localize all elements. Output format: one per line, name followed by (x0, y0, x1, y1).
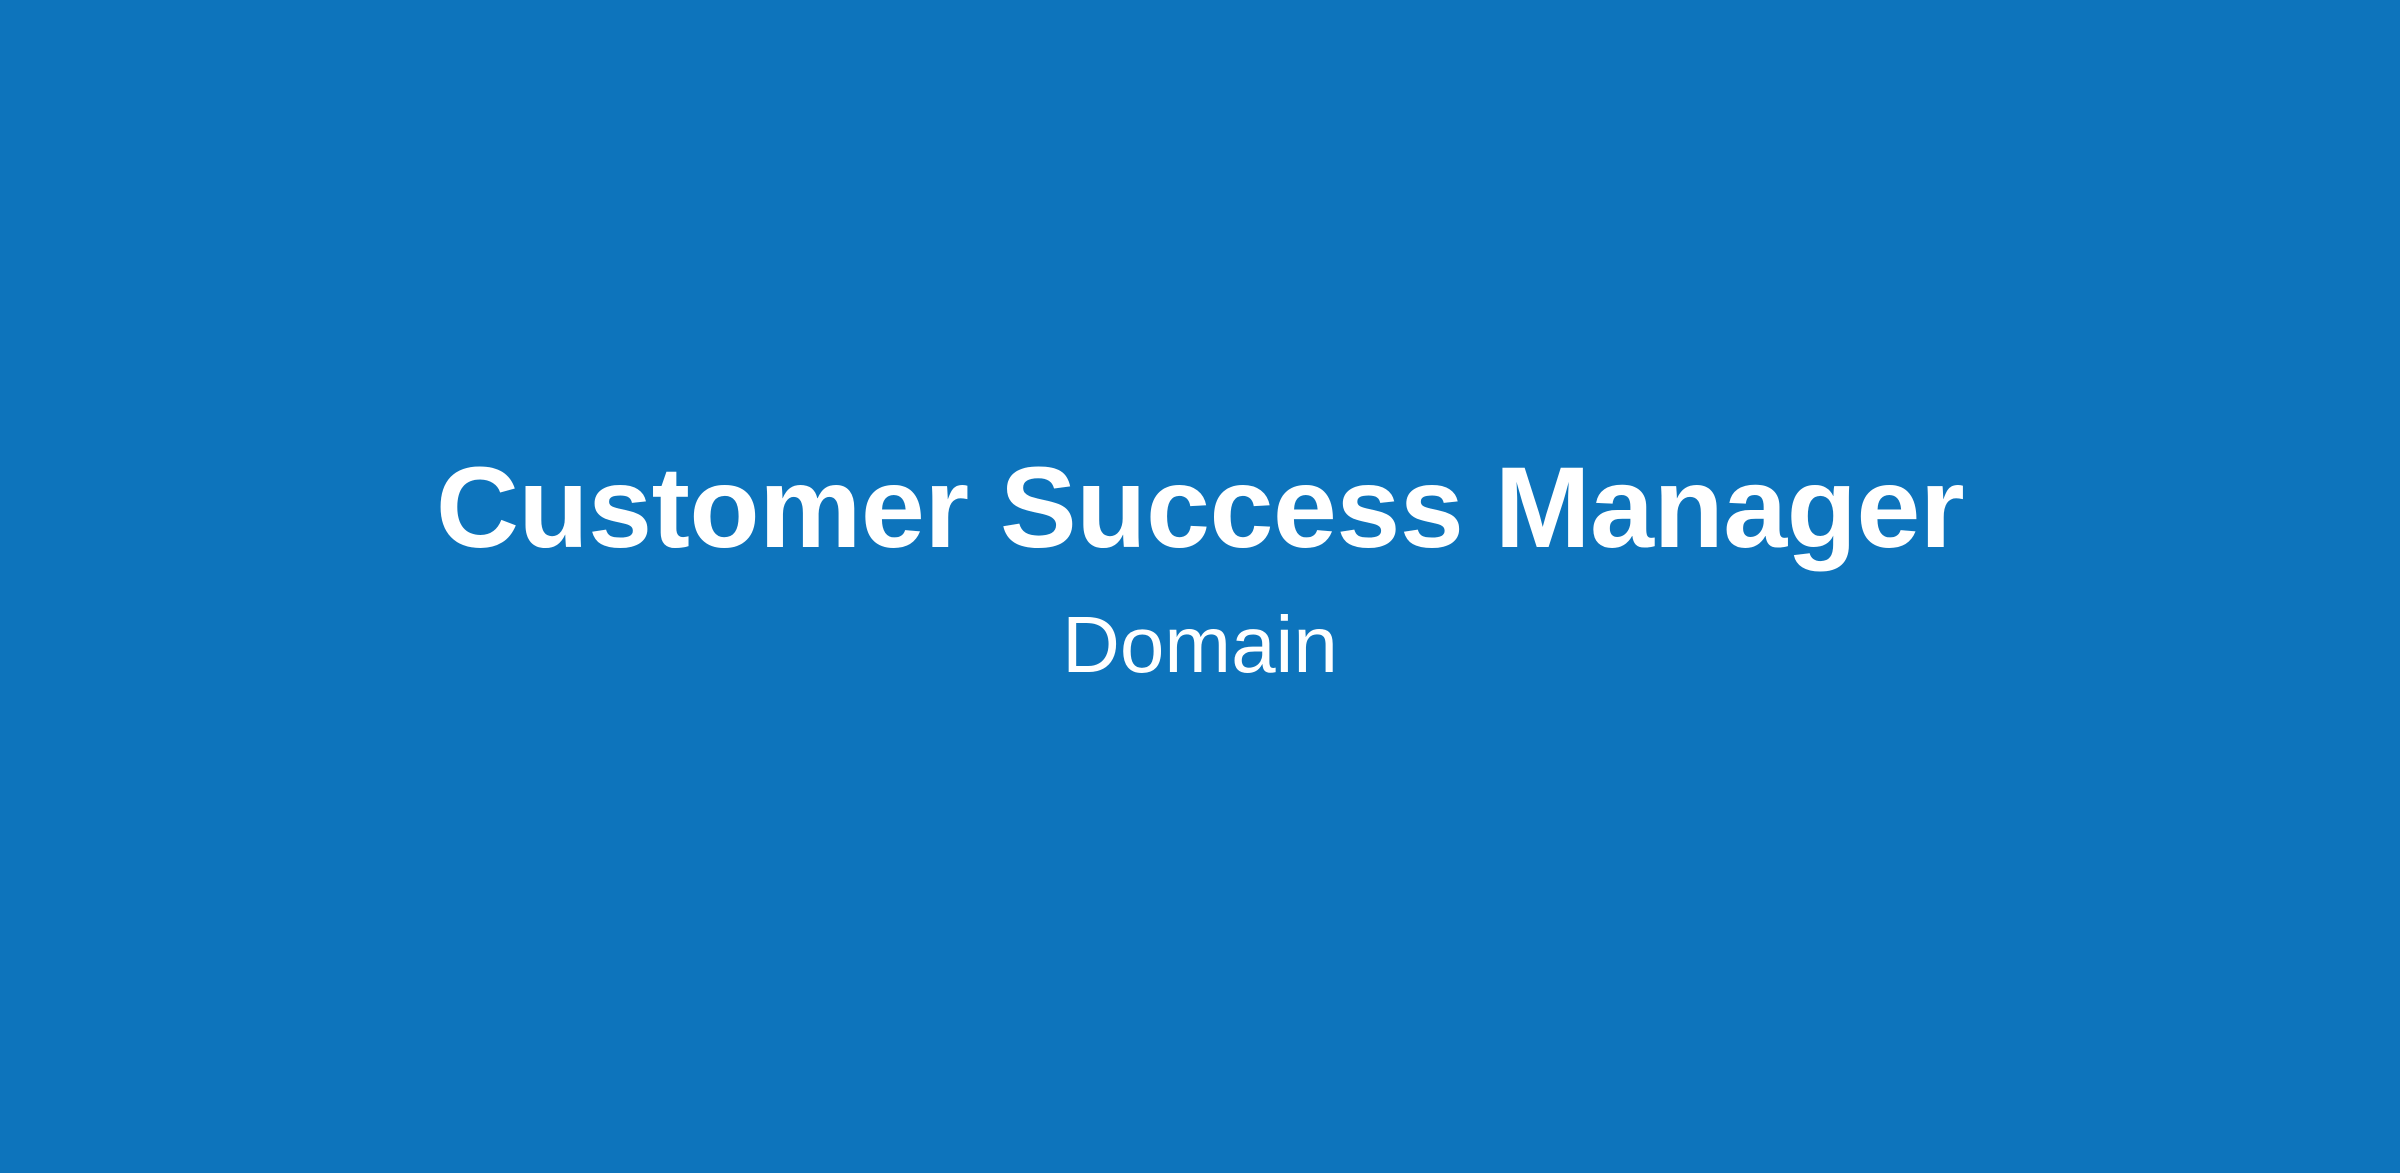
company-name: Domain (1062, 601, 1338, 689)
job-placeholder-card: Customer Success Manager Domain (0, 0, 2400, 1173)
job-title: Customer Success Manager (436, 444, 1964, 573)
card-text-stack: Customer Success Manager Domain (0, 444, 2400, 689)
